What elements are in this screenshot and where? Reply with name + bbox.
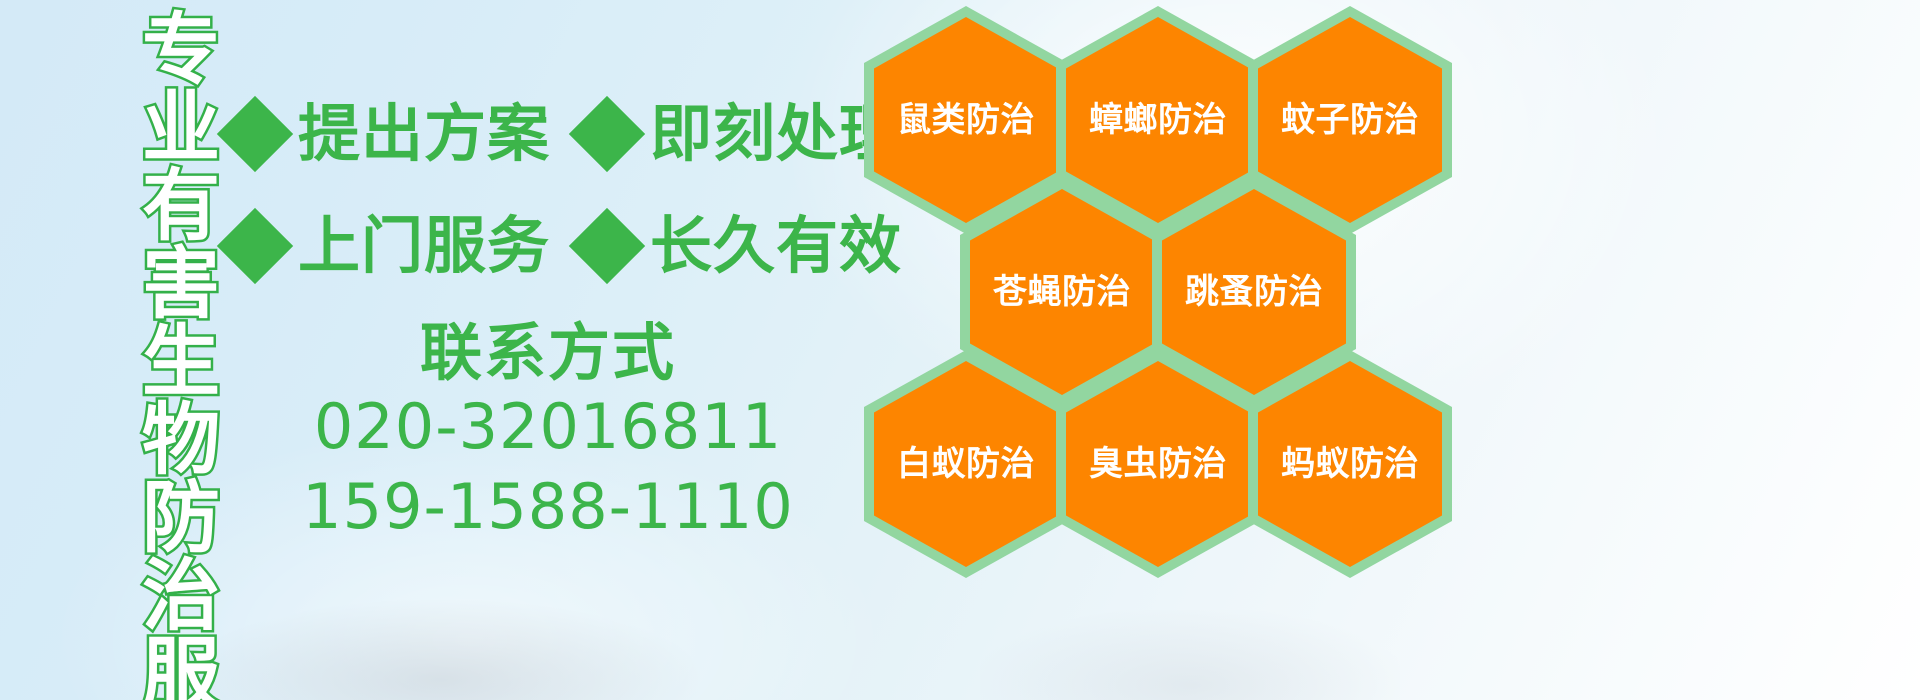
- hexagon-shape: 跳蚤防治: [1162, 189, 1346, 395]
- feature-item-long-lasting: 长久有效: [580, 215, 902, 277]
- service-honeycomb: 鼠类防治 蟑螂防治 蚊子防治 苍蝇防治 跳蚤防治 白蚁防治: [856, 0, 1460, 640]
- service-label: 白蚁防治: [897, 447, 1035, 481]
- contact-heading: 联系方式: [228, 318, 868, 387]
- feature-item-propose-plan: 提出方案: [228, 103, 550, 165]
- service-label: 苍蝇防治: [993, 275, 1131, 309]
- hexagon-shape: 白蚁防治: [874, 361, 1058, 567]
- feature-item-immediate-handling: 即刻处理: [580, 103, 902, 165]
- service-label: 跳蚤防治: [1185, 275, 1323, 309]
- feature-label: 上门服务: [298, 215, 550, 277]
- service-label: 臭虫防治: [1089, 447, 1227, 481]
- hexagon-shape: 蚂蚁防治: [1258, 361, 1442, 567]
- diamond-bullet-icon: [217, 96, 293, 172]
- background-shadow-left: [180, 600, 700, 700]
- service-label: 蚊子防治: [1281, 103, 1419, 137]
- hexagon-shape: 蚊子防治: [1258, 17, 1442, 223]
- hexagon-shape: 鼠类防治: [874, 17, 1058, 223]
- service-label: 鼠类防治: [897, 103, 1035, 137]
- feature-label: 提出方案: [298, 103, 550, 165]
- hexagon-shape: 苍蝇防治: [970, 189, 1154, 395]
- diamond-bullet-icon: [569, 208, 645, 284]
- service-label: 蚂蚁防治: [1281, 447, 1419, 481]
- feature-list: 提出方案 即刻处理 上门服务 长久有效: [228, 78, 868, 302]
- pest-control-banner: 专业有害生物防治服务 提出方案 即刻处理 上门服务 长久有效 联: [0, 0, 1920, 700]
- service-label: 蟑螂防治: [1089, 103, 1227, 137]
- diamond-bullet-icon: [569, 96, 645, 172]
- feature-item-onsite-service: 上门服务: [228, 215, 550, 277]
- feature-row: 上门服务 长久有效: [228, 190, 868, 302]
- diamond-bullet-icon: [217, 208, 293, 284]
- hexagon-shape: 臭虫防治: [1066, 361, 1250, 567]
- contact-block: 联系方式 020-32016811 159-1588-1110: [228, 318, 868, 546]
- vertical-headline: 专业有害生物防治服务: [108, 8, 212, 700]
- feature-row: 提出方案 即刻处理: [228, 78, 868, 190]
- hexagon-shape: 蟑螂防治: [1066, 17, 1250, 223]
- contact-phone-mobile[interactable]: 159-1588-1110: [228, 467, 868, 546]
- contact-phone-landline[interactable]: 020-32016811: [228, 387, 868, 466]
